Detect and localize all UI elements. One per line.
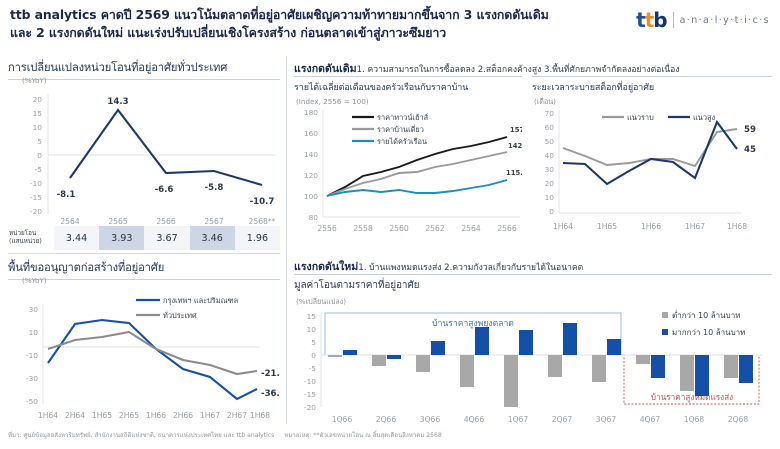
svg-text:กรุงเทพฯ และปริมณฑล: กรุงเทพฯ และปริมณฑล [163,296,238,305]
svg-text:2Q67: 2Q67 [552,415,573,424]
logo-analytics-text: a·n·a·l·y·t·i·c·s [680,15,770,26]
svg-text:1H65: 1H65 [92,411,112,420]
svg-text:10: 10 [33,123,43,132]
footer-note: หมายเหตุ: **ตัวเลขหน่วยโอน ณ สิ้นสุดเดือ… [284,432,441,439]
svg-text:3Q66: 3Q66 [420,415,441,424]
svg-text:1H67: 1H67 [685,222,705,231]
svg-text:1Q67: 1Q67 [508,415,529,424]
svg-text:0: 0 [549,207,554,216]
footer: ที่มา: ศูนย์ข้อมูลอสังหาริมทรัพย์, สำนัก… [8,430,772,440]
svg-text:-20: -20 [30,207,42,216]
headline-line-2: และ 2 แรงกดดันใหม่ แนะเร่งปรับเปลี่ยนเชิ… [10,24,650,42]
panel-rule-2 [294,76,522,77]
table-row-label: หน่วยโอน (แสนหน่วย) [8,226,54,250]
svg-text:59: 59 [744,125,756,135]
left-horizontal-divider [8,253,280,254]
svg-text:4Q66: 4Q66 [464,415,485,424]
svg-text:10: 10 [29,328,39,337]
svg-text:30: 30 [29,305,39,314]
svg-text:-5: -5 [309,364,317,373]
logo-letter-t2: t [645,8,654,32]
svg-text:-20: -20 [304,403,316,412]
svg-text:ทั่วประเทศ: ทั่วประเทศ [163,310,197,320]
table-cell: 3.93 [99,226,144,250]
panel-rule-4 [8,279,280,280]
svg-text:-5.8: -5.8 [205,183,224,193]
svg-text:157.2: 157.2 [510,126,522,134]
ttb-analytics-logo: ttb a·n·a·l·y·t·i·c·s [636,10,770,30]
logo-letter-t1: t [636,8,645,32]
svg-text:5: 5 [311,338,316,347]
headline: ttb analytics คาดปี 2569 แนวโน้มตลาดที่อ… [10,6,650,42]
svg-text:50: 50 [545,137,555,146]
svg-text:1H68: 1H68 [250,411,270,420]
svg-text:1Q66: 1Q66 [332,415,353,424]
svg-text:15: 15 [307,312,317,321]
table-row-label-line2: (แสนหน่วย) [9,238,54,246]
svg-text:-8.1: -8.1 [57,190,76,200]
svg-text:2Q66: 2Q66 [376,415,397,424]
svg-text:2558: 2558 [353,224,372,233]
header: ttb analytics คาดปี 2569 แนวโน้มตลาดที่อ… [10,6,770,50]
svg-text:10: 10 [307,325,317,334]
new-pressure-header: แรงกดดันใหม่ 1. บ้านแพงหมดแรงส่ง 2.ความก… [294,258,583,275]
chart-stock-absorption: 70 60 50 40 30 20 10 0 59 45 แนวราบ แนวส… [532,105,776,245]
svg-text:2H66: 2H66 [173,411,193,420]
svg-text:160: 160 [304,129,318,138]
table-cell: 3.44 [54,226,99,250]
svg-text:1H64: 1H64 [553,222,573,231]
svg-text:3Q67: 3Q67 [596,415,617,424]
svg-text:2567: 2567 [204,217,223,226]
infographic-page: ttb analytics คาดปี 2569 แนวโน้มตลาดที่อ… [0,0,780,449]
svg-text:20: 20 [33,95,43,104]
svg-text:115.2: 115.2 [506,169,522,177]
panel-rule-3 [532,76,772,77]
svg-text:บ้านราคาสูงหมดแรงส่ง: บ้านราคาสูงหมดแรงส่ง [651,392,733,403]
ttb-wordmark: ttb [636,10,666,30]
svg-text:1H66: 1H66 [641,222,661,231]
svg-text:0: 0 [37,151,42,160]
svg-text:-6.6: -6.6 [155,185,174,195]
svg-text:มากกว่า 10 ล้านบาท: มากกว่า 10 ล้านบาท [672,328,745,337]
existing-pressure-items: 1. ความสามารถในการซื้อลดลง 2.สต็อกคงค้าง… [357,65,680,75]
svg-text:2562: 2562 [425,224,444,233]
panel-rule-5 [294,274,772,275]
headline-line-1: ttb analytics คาดปี 2569 แนวโน้มตลาดที่อ… [10,6,650,24]
svg-text:ราคาทาวน์เฮ้าส์: ราคาทาวน์เฮ้าส์ [377,113,429,122]
svg-text:70: 70 [545,109,555,118]
transfer-units-table: หน่วยโอน (แสนหน่วย) 3.44 3.93 3.67 3.46 … [8,226,280,250]
table-cell: 3.46 [190,226,235,250]
svg-text:14.3: 14.3 [107,97,128,107]
svg-text:2566: 2566 [156,217,175,226]
svg-text:-10.7: -10.7 [250,197,275,207]
svg-text:2564: 2564 [461,224,480,233]
svg-text:0: 0 [311,351,316,360]
axis-unit-permit: (%YoY) [22,276,47,285]
svg-text:2565: 2565 [108,217,127,226]
svg-text:-30: -30 [26,374,38,383]
svg-text:60: 60 [545,123,555,132]
svg-text:1H66: 1H66 [146,411,166,420]
svg-text:บ้านราคาสูงพยุงตลาด: บ้านราคาสูงพยุงตลาด [432,318,514,329]
svg-text:2H65: 2H65 [119,411,139,420]
svg-text:2556: 2556 [317,224,336,233]
logo-divider [673,12,674,28]
svg-text:2566: 2566 [497,224,516,233]
svg-text:2Q68: 2Q68 [728,415,749,424]
svg-text:-10: -10 [30,179,42,188]
svg-text:2568**: 2568** [249,217,276,226]
footer-source: ที่มา: ศูนย์ข้อมูลอสังหาริมทรัพย์, สำนัก… [8,432,274,439]
svg-text:100: 100 [304,192,318,201]
svg-text:120: 120 [304,171,318,180]
svg-text:-50: -50 [26,397,38,406]
svg-text:1H64: 1H64 [38,411,58,420]
table-cell: 3.67 [144,226,189,250]
chart-construction-permit: 30 10 -10 -30 -50 -21.2 -36.6 กรุงเทพฯ แ… [8,286,280,426]
existing-pressure-header: แรงกดดันเดิม 1. ความสามารถในการซื้อลดลง … [294,60,680,77]
svg-text:ต่ำกว่า 10 ล้านบาท: ต่ำกว่า 10 ล้านบาท [672,309,741,320]
svg-text:1H67: 1H67 [200,411,220,420]
svg-text:2560: 2560 [389,224,408,233]
svg-text:4Q67: 4Q67 [640,415,661,424]
panel-title-stock: ระยะเวลาระบายสต็อกที่อยู่อาศัย [532,80,772,94]
svg-text:-10: -10 [304,377,316,386]
svg-text:-15: -15 [30,193,42,202]
svg-text:1Q68: 1Q68 [684,415,705,424]
svg-text:2H67: 2H67 [227,411,247,420]
svg-text:-36.6: -36.6 [261,389,280,399]
new-pressure-items: 1. บ้านแพงหมดแรงส่ง 2.ความกังวลเกี่ยวกับ… [358,263,583,273]
table-cell: 1.96 [235,226,280,250]
svg-text:-5: -5 [35,165,43,174]
panel-title-transfer-units: การเปลี่ยนแปลงหน่วยโอนที่อยู่อาศัยทั่วปร… [8,58,280,76]
chart-transfer-units: 20 15 10 5 0 -5 -10 -15 -20 -8.1 14.3 -6… [8,86,280,226]
logo-letter-b: b [653,8,666,32]
svg-text:10: 10 [545,193,555,202]
svg-text:2564: 2564 [60,217,79,226]
svg-text:แนวราบ: แนวราบ [627,113,654,122]
axis-unit-transfer-units: (%YoY) [22,76,47,85]
vertical-divider [286,56,287,424]
svg-text:30: 30 [545,165,555,174]
svg-text:1H65: 1H65 [597,222,617,231]
svg-text:ราคาบ้านเดี่ยว: ราคาบ้านเดี่ยว [377,124,424,134]
svg-text:140: 140 [304,150,318,159]
panel-title-permit: พื้นที่ขออนุญาตก่อสร้างที่อยู่อาศัย [8,258,280,276]
svg-text:142.5: 142.5 [508,142,522,150]
svg-text:แนวสูง: แนวสูง [693,113,715,122]
svg-text:15: 15 [33,109,43,118]
svg-text:-15: -15 [304,390,316,399]
svg-text:45: 45 [744,145,756,155]
svg-text:80: 80 [309,213,319,222]
svg-text:20: 20 [545,179,555,188]
chart-transfer-value-by-price: 15 10 5 0 -5 -10 -15 -20 บ้านราคาสูงพยุง… [294,304,772,432]
panel-title-transfer-value: มูลค่าโอนตามราคาที่อยู่อาศัย [294,278,772,293]
svg-text:-10: -10 [26,351,38,360]
chart-income-vs-house-price: 180 160 140 120 100 80 157.2 142.5 115.2… [294,105,522,245]
svg-text:180: 180 [304,108,318,117]
panel-rule-1 [8,79,280,80]
svg-text:-21.2: -21.2 [261,369,280,379]
svg-text:1H68: 1H68 [727,222,747,231]
svg-text:2H64: 2H64 [65,411,85,420]
panel-title-income: รายได้เฉลี่ยต่อเดือนของครัวเรือนกับราคาบ… [294,80,522,94]
new-pressure-label: แรงกดดันใหม่ [294,261,358,273]
svg-text:5: 5 [37,137,42,146]
table-row-label-line1: หน่วยโอน [9,230,54,238]
existing-pressure-label: แรงกดดันเดิม [294,63,357,75]
svg-text:40: 40 [545,151,555,160]
svg-text:รายได้ครัวเรือน: รายได้ครัวเรือน [377,137,427,146]
